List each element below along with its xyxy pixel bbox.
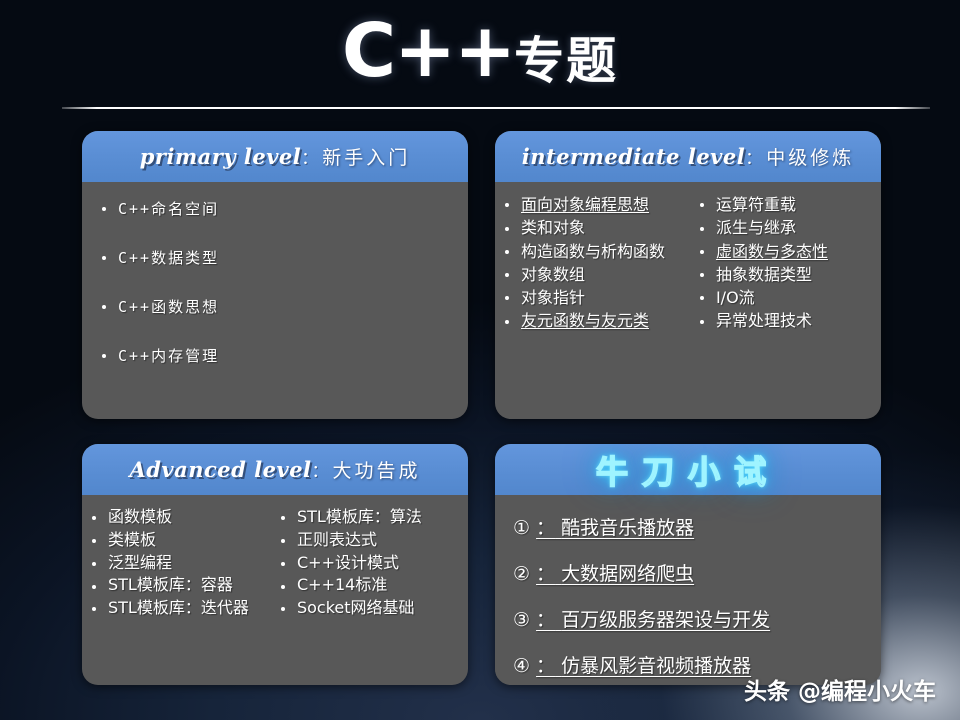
card-primary-body: C++命名空间 C++数据类型 C++函数思想 C++内存管理 <box>82 182 468 366</box>
list-item: Socket网络基础 <box>277 598 460 619</box>
project-label: ： 百万级服务器架设与开发 <box>536 609 770 631</box>
list-item: 派生与继承 <box>696 217 871 238</box>
card-advanced-list-left: 函数模板 类模板 泛型编程 STL模板库：容器 STL模板库：迭代器 <box>88 507 277 619</box>
project-label: ： 大数据网络爬虫 <box>536 563 694 585</box>
list-item: 虚函数与多态性 <box>696 241 871 262</box>
card-trial-body: ①： 酷我音乐播放器 ②： 大数据网络爬虫 ③： 百万级服务器架设与开发 ④： … <box>495 495 881 678</box>
list-item: 抽象数据类型 <box>696 264 871 285</box>
project-label: ： 仿暴风影音视频播放器 <box>536 655 751 677</box>
list-item: I/O流 <box>696 287 871 308</box>
list-item: 友元函数与友元类 <box>501 310 696 331</box>
card-intermediate-list-right: 运算符重载 派生与继承 虚函数与多态性 抽象数据类型 I/O流 异常处理技术 <box>696 194 871 332</box>
list-item: 异常处理技术 <box>696 310 871 331</box>
list-item: C++14标准 <box>277 575 460 596</box>
project-number: ① <box>513 517 530 539</box>
card-primary-header-en: primary level <box>140 144 302 169</box>
card-advanced-column-left: 函数模板 类模板 泛型编程 STL模板库：容器 STL模板库：迭代器 <box>88 507 277 621</box>
list-item: ③： 百万级服务器架设与开发 <box>513 605 881 632</box>
list-item: 正则表达式 <box>277 530 460 551</box>
card-intermediate-level[interactable]: intermediate level：中级修炼 面向对象编程思想 类和对象 构造… <box>495 131 881 419</box>
page-title: C++专题 <box>0 8 960 94</box>
slide-root: C++专题 primary level：新手入门 C++命名空间 C++数据类型… <box>0 0 960 720</box>
list-item: 对象指针 <box>501 287 696 308</box>
card-trial-projects[interactable]: 牛刀小试 ①： 酷我音乐播放器 ②： 大数据网络爬虫 ③： 百万级服务器架设与开… <box>495 444 881 685</box>
card-primary-list: C++命名空间 C++数据类型 C++函数思想 C++内存管理 <box>98 198 468 366</box>
card-intermediate-body: 面向对象编程思想 类和对象 构造函数与析构函数 对象数组 对象指针 友元函数与友… <box>495 182 881 334</box>
card-trial-project-list: ①： 酷我音乐播放器 ②： 大数据网络爬虫 ③： 百万级服务器架设与开发 ④： … <box>513 513 881 678</box>
title-cn-text: 专题 <box>514 32 618 90</box>
list-item: 函数模板 <box>88 507 277 528</box>
card-advanced-header-en: Advanced level <box>129 457 311 482</box>
list-item: 面向对象编程思想 <box>501 194 696 215</box>
card-intermediate-header-sep: ： <box>745 144 762 169</box>
list-item: 对象数组 <box>501 264 696 285</box>
card-primary-header-cn: 新手入门 <box>322 143 410 170</box>
list-item: STL模板库：迭代器 <box>88 598 277 619</box>
card-intermediate-list-left: 面向对象编程思想 类和对象 构造函数与析构函数 对象数组 对象指针 友元函数与友… <box>501 194 696 332</box>
card-primary-level[interactable]: primary level：新手入门 C++命名空间 C++数据类型 C++函数… <box>82 131 468 419</box>
card-advanced-level[interactable]: Advanced level：大功告成 函数模板 类模板 泛型编程 STL模板库… <box>82 444 468 685</box>
list-item: 泛型编程 <box>88 553 277 574</box>
card-intermediate-header-cn: 中级修炼 <box>766 143 854 170</box>
card-primary-header: primary level：新手入门 <box>82 131 468 182</box>
list-item: STL模板库：算法 <box>277 507 460 528</box>
card-intermediate-header-en: intermediate level <box>522 144 745 169</box>
card-primary-header-sep: ： <box>301 144 318 169</box>
list-item: ①： 酷我音乐播放器 <box>513 513 881 540</box>
list-item: C++数据类型 <box>98 247 468 268</box>
card-intermediate-header: intermediate level：中级修炼 <box>495 131 881 182</box>
list-item: 类模板 <box>88 530 277 551</box>
project-label: ： 酷我音乐播放器 <box>536 517 694 539</box>
card-trial-header-text: 牛刀小试 <box>596 447 780 493</box>
list-item: C++函数思想 <box>98 296 468 317</box>
list-item: ②： 大数据网络爬虫 <box>513 559 881 586</box>
title-main-text: C++ <box>342 8 514 94</box>
card-intermediate-column-left: 面向对象编程思想 类和对象 构造函数与析构函数 对象数组 对象指针 友元函数与友… <box>501 194 696 334</box>
title-divider <box>62 107 930 109</box>
card-advanced-header-sep: ： <box>312 457 329 482</box>
card-advanced-header-cn: 大功告成 <box>333 456 421 483</box>
card-advanced-body: 函数模板 类模板 泛型编程 STL模板库：容器 STL模板库：迭代器 STL模板… <box>82 495 468 621</box>
list-item: 运算符重载 <box>696 194 871 215</box>
card-intermediate-column-right: 运算符重载 派生与继承 虚函数与多态性 抽象数据类型 I/O流 异常处理技术 <box>696 194 871 334</box>
list-item: STL模板库：容器 <box>88 575 277 596</box>
list-item: C++命名空间 <box>98 198 468 219</box>
card-advanced-column-right: STL模板库：算法 正则表达式 C++设计模式 C++14标准 Socket网络… <box>277 507 460 621</box>
project-number: ② <box>513 563 530 585</box>
card-trial-header: 牛刀小试 <box>495 444 881 495</box>
watermark: 头条 @编程小火车 <box>744 672 936 706</box>
list-item: 构造函数与析构函数 <box>501 241 696 262</box>
project-number: ④ <box>513 655 530 677</box>
list-item: 类和对象 <box>501 217 696 238</box>
project-number: ③ <box>513 609 530 631</box>
card-advanced-header: Advanced level：大功告成 <box>82 444 468 495</box>
list-item: C++内存管理 <box>98 345 468 366</box>
list-item: C++设计模式 <box>277 553 460 574</box>
card-advanced-list-right: STL模板库：算法 正则表达式 C++设计模式 C++14标准 Socket网络… <box>277 507 460 619</box>
